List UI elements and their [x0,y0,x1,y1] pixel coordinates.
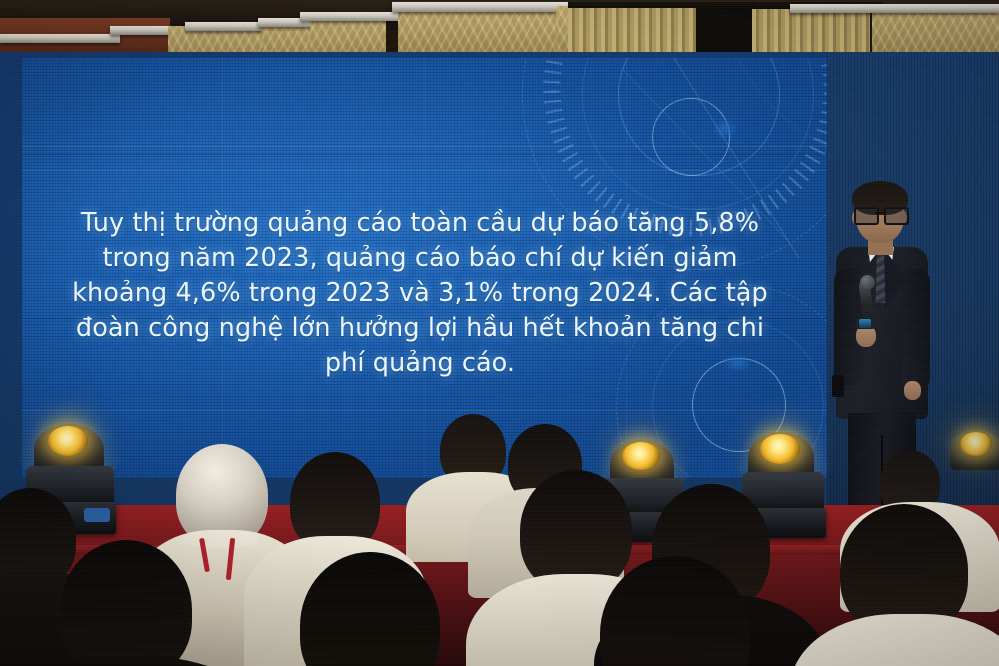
glasses-bridge [875,212,885,214]
smartwatch-face [859,319,871,328]
speaker-phone [832,375,844,397]
slide-body-text: Tuy thị trường quảng cáo toàn cầu dự báo… [60,206,780,381]
glasses-icon [853,207,907,222]
stage-light-right-lens [760,434,800,464]
glasses-lens-left [854,207,879,225]
glasses-lens-right [884,207,909,225]
speaker-arm-right [902,269,930,389]
stage-light-far-right [944,424,999,514]
crown-molding-3 [185,22,265,31]
photo-canvas: Tuy thị trường quảng cáo toàn cầu dự báo… [0,0,999,666]
crown-molding-1 [0,34,120,43]
tech-ring-7 [22,58,184,200]
stage-light-far-right-lens [960,432,992,456]
stage-light-left-lens [48,426,88,456]
speaker-hand-right [904,381,921,400]
crown-molding-7 [790,4,999,13]
stage-light-center-lens [622,442,660,470]
microphone-head [860,275,875,290]
crown-molding-5 [300,12,400,21]
